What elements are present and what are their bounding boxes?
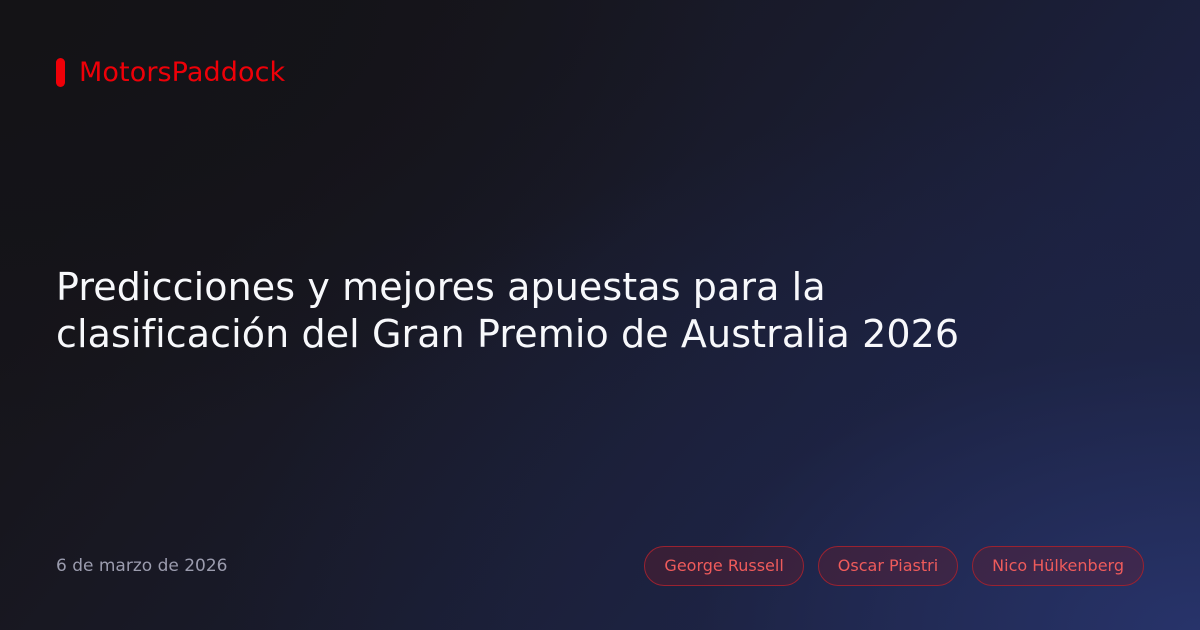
card-footer: 6 de marzo de 2026 George Russell Oscar … [56, 546, 1144, 586]
publish-date: 6 de marzo de 2026 [56, 558, 228, 575]
tag-chip[interactable]: Nico Hülkenberg [972, 546, 1144, 586]
tag-list: George Russell Oscar Piastri Nico Hülken… [644, 546, 1144, 586]
og-share-card: MotorsPaddock Predicciones y mejores apu… [0, 0, 1200, 630]
tag-chip[interactable]: George Russell [644, 546, 803, 586]
tag-chip[interactable]: Oscar Piastri [818, 546, 958, 586]
title-block: Predicciones y mejores apuestas para la … [56, 76, 1144, 546]
page-title: Predicciones y mejores apuestas para la … [56, 264, 1066, 358]
